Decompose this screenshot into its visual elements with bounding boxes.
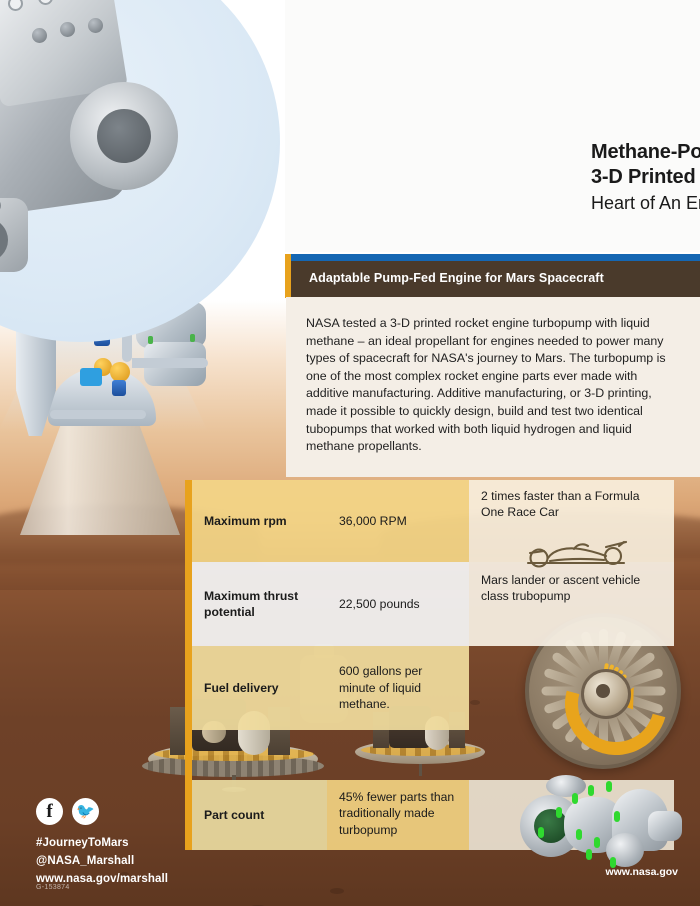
facebook-icon: f [36,798,63,825]
pump-bolt [88,18,103,33]
agency-line-1: National Aeronautics and [685,68,700,82]
footer-site[interactable]: www.nasa.gov/marshall [36,870,296,888]
spec-label: Fuel delivery [192,646,327,730]
banner-blue-stripe [290,254,700,261]
turbopump-outlet [648,811,682,841]
footer-text: #JourneyToMars @NASA_Marshall www.nasa.g… [36,834,296,888]
title-line-2: 3-D Printed Turbopump [591,165,700,190]
spec-value: 45% fewer parts than traditionally made … [327,780,469,850]
pump-bolt [60,22,75,37]
infographic-poster: National Aeronautics and Space Administr… [0,0,700,906]
title-line-1: Methane-Powered [591,140,700,165]
agency-name: National Aeronautics and Space Administr… [685,68,700,96]
social-links: f 🐦 [36,798,156,826]
section-banner-label: Adaptable Pump-Fed Engine for Mars Space… [309,271,604,285]
engine-blue-component [80,368,102,386]
agency-line-2: Space Administration [685,82,700,96]
engine-blue-component [112,380,126,396]
spec-comparison [469,646,674,730]
spec-value: 600 gallons per minute of liquid methane… [327,646,469,730]
spec-comparison: Mars lander or ascent vehicle class trub… [469,562,674,646]
table-row: Maximum thrust potential 22,500 pounds M… [192,562,674,646]
footer-main-url[interactable]: www.nasa.gov [605,866,678,878]
spec-value: 22,500 pounds [327,562,469,646]
footer-handle[interactable]: @NASA_Marshall [36,852,296,870]
formula-one-car-icon [520,536,632,570]
turbopump-render-icon [520,775,685,870]
page-title: Methane-Powered 3-D Printed Turbopump He… [591,140,700,216]
engine-pipe [132,358,208,368]
spec-label: Maximum thrust potential [192,562,327,646]
section-banner: Adaptable Pump-Fed Engine for Mars Space… [291,261,700,297]
table-row: Fuel delivery 600 gallons per minute of … [192,646,674,730]
turbopump-photo [0,0,190,282]
footer-hashtag[interactable]: #JourneyToMars [36,834,296,852]
title-subtitle: Heart of An Engine [591,191,700,216]
turbopump-inlet-bore [534,809,568,843]
table-gold-edge [185,480,192,850]
engine-marker [148,336,153,344]
twitter-button[interactable]: 🐦 [72,798,99,825]
pump-bottom-flange [0,198,28,272]
spec-value: 36,000 RPM [327,480,469,562]
mars-rock [330,888,344,894]
turbopump-top-flange [546,775,586,797]
header-panel: National Aeronautics and Space Administr… [285,0,700,252]
intro-paragraph: NASA tested a 3-D printed rocket engine … [306,315,680,456]
intro-panel: NASA tested a 3-D printed rocket engine … [286,297,700,477]
facebook-button[interactable]: f [36,798,63,825]
pump-bolt [32,28,47,43]
catalog-number: G-153874 [36,884,70,891]
twitter-icon: 🐦 [72,798,99,825]
spec-label: Maximum rpm [192,480,327,562]
engine-pipe [50,410,146,419]
pump-right-flange [70,82,178,190]
engine-marker [190,334,195,342]
engine-gold-actuator [110,362,130,382]
